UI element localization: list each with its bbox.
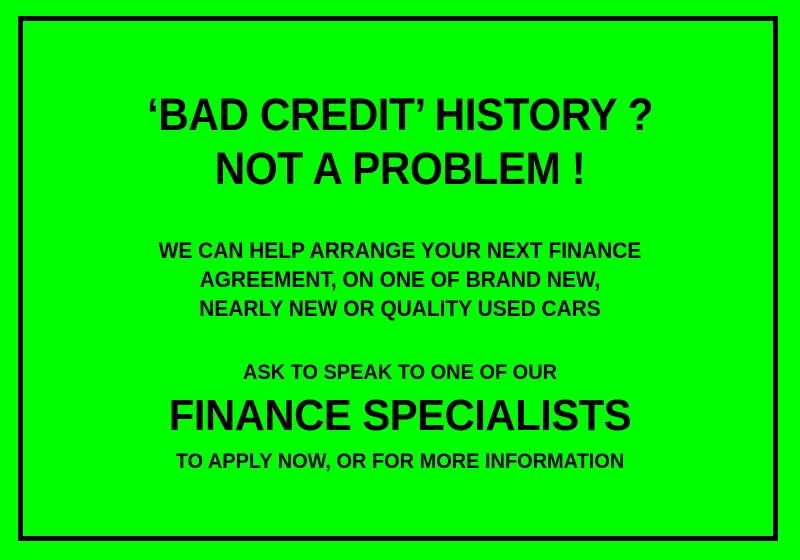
poster-content: ‘BAD CREDIT’ HISTORY ? NOT A PROBLEM ! W… [0,0,800,560]
headline-line-1: ‘BAD CREDIT’ HISTORY ? [62,88,739,142]
cta-title-finance-specialists: FINANCE SPECIALISTS [58,388,742,444]
headline-block: ‘BAD CREDIT’ HISTORY ? NOT A PROBLEM ! [40,88,760,196]
poster-canvas: ‘BAD CREDIT’ HISTORY ? NOT A PROBLEM ! W… [0,0,800,560]
headline-line-2: NOT A PROBLEM ! [62,142,739,196]
body-line-3: NEARLY NEW OR QUALITY USED CARS [58,294,742,323]
body-text-block: WE CAN HELP ARRANGE YOUR NEXT FINANCE AG… [40,236,760,323]
cta-footer-text: TO APPLY NOW, OR FOR MORE INFORMATION [58,448,742,475]
cta-intro-text: ASK TO SPEAK TO ONE OF OUR [58,359,742,386]
call-to-action-block: ASK TO SPEAK TO ONE OF OUR FINANCE SPECI… [40,359,760,475]
body-line-2: AGREEMENT, ON ONE OF BRAND NEW, [58,265,742,294]
body-line-1: WE CAN HELP ARRANGE YOUR NEXT FINANCE [58,236,742,265]
